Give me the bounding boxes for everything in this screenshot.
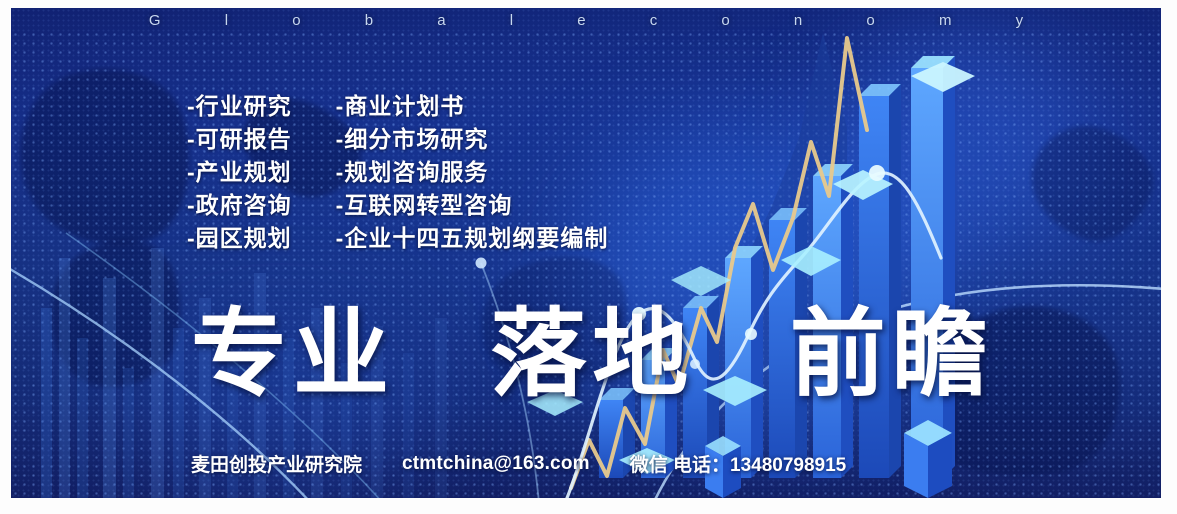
banner-frame: G l o b a l e c o n o m y -行业研究 -可研报告 -产… (0, 0, 1177, 514)
chart-bar (859, 84, 901, 478)
services-left-column: -行业研究 -可研报告 -产业规划 -政府咨询 -园区规划 (187, 92, 292, 252)
organization-name: 麦田创投产业研究院 (191, 450, 362, 477)
service-item: -企业十四五规划纲要编制 (336, 224, 609, 252)
growth-chart-graphic (11, 8, 1161, 498)
service-item: -互联网转型咨询 (336, 191, 609, 219)
service-item: -产业规划 (187, 158, 292, 186)
footer-contact-row: 麦田创投产业研究院 ctmtchina@163.com 微信 电话：134807… (191, 450, 846, 477)
service-item: -商业计划书 (336, 92, 609, 120)
services-list: -行业研究 -可研报告 -产业规划 -政府咨询 -园区规划 -商业计划书 -细分… (187, 92, 608, 252)
banner-top-label: G l o b a l e c o n o m y (11, 12, 1161, 29)
promotional-banner: G l o b a l e c o n o m y -行业研究 -可研报告 -产… (11, 8, 1161, 498)
cube-accent (904, 420, 952, 498)
service-item: -规划咨询服务 (336, 158, 609, 186)
service-item: -可研报告 (187, 125, 292, 153)
services-right-column: -商业计划书 -细分市场研究 -规划咨询服务 -互联网转型咨询 -企业十四五规划… (336, 92, 609, 252)
email-address[interactable]: ctmtchina@163.com (402, 453, 590, 475)
service-item: -政府咨询 (187, 191, 292, 219)
headline-word-2: 落地 (490, 301, 694, 408)
chart-bar (911, 56, 955, 478)
headline-word-3: 前瞻 (790, 301, 994, 408)
service-item: -园区规划 (187, 224, 292, 252)
headline: 专业 落地 前瞻 (191, 304, 994, 406)
service-item: -细分市场研究 (336, 125, 609, 153)
headline-word-1: 专业 (191, 301, 395, 408)
phone-contact: 微信 电话：13480798915 (630, 450, 847, 477)
service-item: -行业研究 (187, 92, 292, 120)
